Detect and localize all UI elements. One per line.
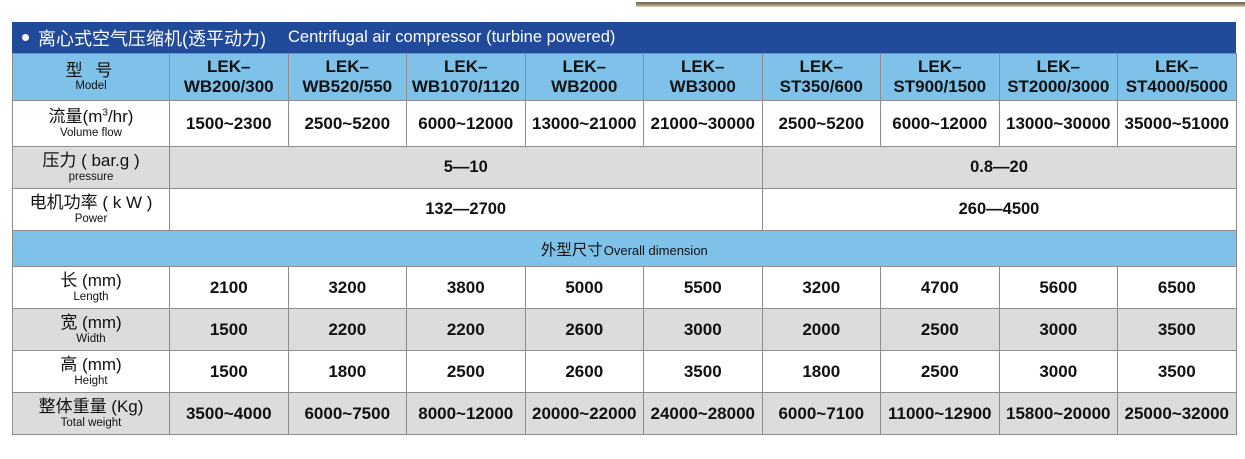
cell-volume-flow-6: 6000~12000 [881, 101, 1000, 147]
row-label-width-en: Width [13, 333, 169, 345]
cell-width-8: 3500 [1118, 309, 1237, 351]
section-title-bar: 离心式空气压缩机(透平动力) Centrifugal air compresso… [12, 22, 1236, 53]
cell-total-weight-4: 24000~28000 [644, 393, 763, 435]
bullet-dot-icon [22, 34, 29, 41]
header-label-model-en: Model [13, 80, 169, 92]
row-label-width-cn: 宽 (mm) [13, 314, 169, 332]
cell-height-2: 2500 [407, 351, 526, 393]
row-label-width: 宽 (mm) Width [13, 309, 170, 351]
cell-length-1: 3200 [288, 267, 407, 309]
table-band-overall-dimension: 外型尺寸Overall dimension [13, 231, 1237, 267]
row-label-volume-flow: 流量(m3/hr) Volume flow [13, 101, 170, 147]
cell-volume-flow-3: 13000~21000 [525, 101, 644, 147]
model-header-0: LEK– WB200/300 [170, 54, 289, 101]
table-row-volume-flow: 流量(m3/hr) Volume flow 1500~2300 2500~520… [13, 101, 1237, 147]
model-prefix: LEK– [1000, 57, 1118, 77]
cell-volume-flow-4: 21000~30000 [644, 101, 763, 147]
cell-width-5: 2000 [762, 309, 881, 351]
table-header-row: 型 号 Model LEK– WB200/300 LEK– WB520/550 … [13, 54, 1237, 101]
cell-length-7: 5600 [999, 267, 1118, 309]
cell-height-0: 1500 [170, 351, 289, 393]
row-label-power: 电机功率 ( k W ) Power [13, 189, 170, 231]
model-prefix: LEK– [170, 57, 288, 77]
cell-total-weight-0: 3500~4000 [170, 393, 289, 435]
model-header-8: LEK– ST4000/5000 [1118, 54, 1237, 101]
cell-length-5: 3200 [762, 267, 881, 309]
table-row-power: 电机功率 ( k W ) Power 132—2700 260—4500 [13, 189, 1237, 231]
table-row-total-weight: 整体重量 (Kg) Total weight 3500~4000 6000~75… [13, 393, 1237, 435]
model-header-3: LEK– WB2000 [525, 54, 644, 101]
cell-height-4: 3500 [644, 351, 763, 393]
row-label-length: 长 (mm) Length [13, 267, 170, 309]
model-prefix: LEK– [763, 57, 881, 77]
model-code: WB2000 [526, 77, 644, 97]
model-prefix: LEK– [644, 57, 762, 77]
model-code: WB520/550 [289, 77, 407, 97]
cell-power-st: 260—4500 [762, 189, 1236, 231]
cell-total-weight-8: 25000~32000 [1118, 393, 1237, 435]
cell-height-1: 1800 [288, 351, 407, 393]
cell-length-0: 2100 [170, 267, 289, 309]
model-prefix: LEK– [881, 57, 999, 77]
header-label-model: 型 号 Model [13, 54, 170, 101]
cell-width-3: 2600 [525, 309, 644, 351]
table-row-length: 长 (mm) Length 2100 3200 3800 5000 5500 3… [13, 267, 1237, 309]
cell-width-6: 2500 [881, 309, 1000, 351]
row-label-power-en: Power [13, 213, 169, 225]
cell-total-weight-7: 15800~20000 [999, 393, 1118, 435]
model-prefix: LEK– [289, 57, 407, 77]
cell-width-7: 3000 [999, 309, 1118, 351]
row-label-height-en: Height [13, 375, 169, 387]
cell-length-8: 6500 [1118, 267, 1237, 309]
row-label-volume-flow-cn: 流量(m3/hr) [13, 108, 169, 126]
cell-volume-flow-8: 35000~51000 [1118, 101, 1237, 147]
row-label-total-weight-en: Total weight [13, 417, 169, 429]
row-label-pressure-en: pressure [13, 171, 169, 183]
model-code: ST4000/5000 [1118, 77, 1236, 97]
row-label-total-weight: 整体重量 (Kg) Total weight [13, 393, 170, 435]
section-title-cn: 离心式空气压缩机(透平动力) [38, 25, 266, 51]
band-label-overall-dimension: 外型尺寸Overall dimension [13, 231, 1237, 267]
header-label-model-cn: 型 号 [13, 62, 169, 80]
model-code: WB3000 [644, 77, 762, 97]
table-row-pressure: 压力 ( bar.g ) pressure 5—10 0.8—20 [13, 147, 1237, 189]
row-label-volume-flow-en: Volume flow [13, 127, 169, 139]
cell-height-6: 2500 [881, 351, 1000, 393]
cell-volume-flow-5: 2500~5200 [762, 101, 881, 147]
band-label-en: Overall dimension [604, 243, 708, 258]
row-label-height: 高 (mm) Height [13, 351, 170, 393]
cell-width-2: 2200 [407, 309, 526, 351]
model-code: WB200/300 [170, 77, 288, 97]
cell-length-4: 5500 [644, 267, 763, 309]
specification-table: 型 号 Model LEK– WB200/300 LEK– WB520/550 … [12, 53, 1237, 435]
model-code: ST350/600 [763, 77, 881, 97]
cell-total-weight-3: 20000~22000 [525, 393, 644, 435]
top-edge-strip [636, 2, 1245, 7]
cell-pressure-st: 0.8—20 [762, 147, 1236, 189]
model-code: WB1070/1120 [407, 77, 525, 97]
cell-total-weight-2: 8000~12000 [407, 393, 526, 435]
row-label-total-weight-cn: 整体重量 (Kg) [13, 398, 169, 416]
cell-length-6: 4700 [881, 267, 1000, 309]
row-label-power-cn: 电机功率 ( k W ) [13, 194, 169, 212]
model-header-2: LEK– WB1070/1120 [407, 54, 526, 101]
model-code: ST900/1500 [881, 77, 999, 97]
band-label-cn: 外型尺寸 [541, 242, 603, 259]
cell-width-0: 1500 [170, 309, 289, 351]
cell-height-7: 3000 [999, 351, 1118, 393]
cell-volume-flow-0: 1500~2300 [170, 101, 289, 147]
model-header-4: LEK– WB3000 [644, 54, 763, 101]
row-label-pressure: 压力 ( bar.g ) pressure [13, 147, 170, 189]
cell-length-3: 5000 [525, 267, 644, 309]
cell-height-3: 2600 [525, 351, 644, 393]
cell-volume-flow-7: 13000~30000 [999, 101, 1118, 147]
row-label-length-cn: 长 (mm) [13, 272, 169, 290]
cell-volume-flow-2: 6000~12000 [407, 101, 526, 147]
model-prefix: LEK– [526, 57, 644, 77]
cell-length-2: 3800 [407, 267, 526, 309]
model-prefix: LEK– [407, 57, 525, 77]
model-prefix: LEK– [1118, 57, 1236, 77]
row-label-pressure-cn: 压力 ( bar.g ) [13, 152, 169, 170]
row-label-height-cn: 高 (mm) [13, 356, 169, 374]
model-header-6: LEK– ST900/1500 [881, 54, 1000, 101]
section-title-en: Centrifugal air compressor (turbine powe… [288, 28, 615, 47]
cell-total-weight-1: 6000~7500 [288, 393, 407, 435]
table-row-width: 宽 (mm) Width 1500 2200 2200 2600 3000 20… [13, 309, 1237, 351]
cell-total-weight-6: 11000~12900 [881, 393, 1000, 435]
cell-height-5: 1800 [762, 351, 881, 393]
model-header-5: LEK– ST350/600 [762, 54, 881, 101]
table-row-height: 高 (mm) Height 1500 1800 2500 2600 3500 1… [13, 351, 1237, 393]
cell-height-8: 3500 [1118, 351, 1237, 393]
row-label-length-en: Length [13, 291, 169, 303]
spec-sheet: 离心式空气压缩机(透平动力) Centrifugal air compresso… [12, 22, 1236, 435]
model-header-1: LEK– WB520/550 [288, 54, 407, 101]
cell-pressure-wb: 5—10 [170, 147, 763, 189]
model-header-7: LEK– ST2000/3000 [999, 54, 1118, 101]
cell-volume-flow-1: 2500~5200 [288, 101, 407, 147]
cell-total-weight-5: 6000~7100 [762, 393, 881, 435]
cell-width-4: 3000 [644, 309, 763, 351]
model-code: ST2000/3000 [1000, 77, 1118, 97]
cell-power-wb: 132—2700 [170, 189, 763, 231]
cell-width-1: 2200 [288, 309, 407, 351]
